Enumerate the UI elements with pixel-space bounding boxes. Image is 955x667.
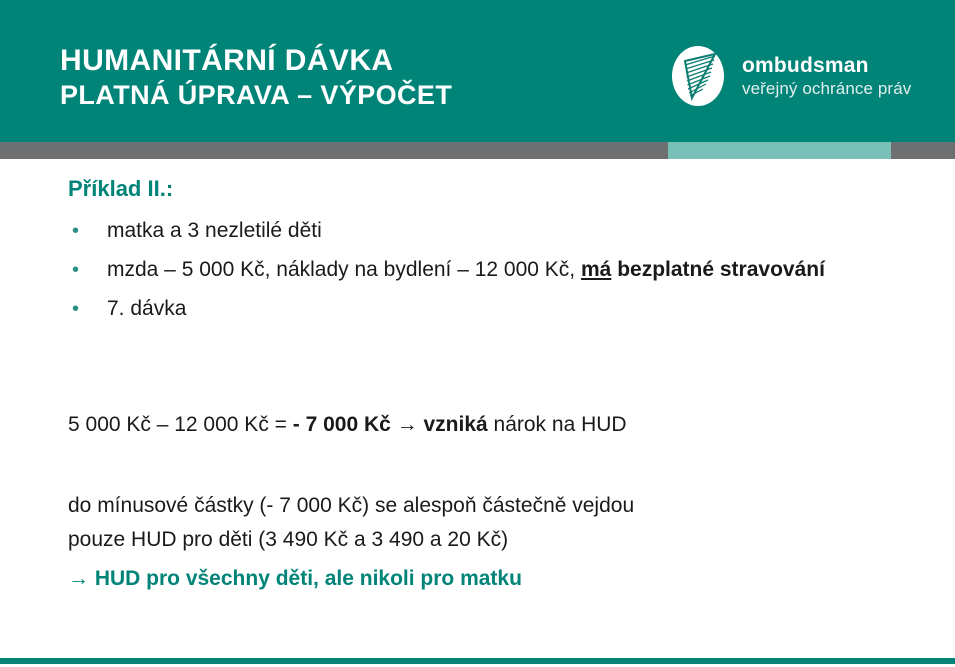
- text-run-0: matka a 3 nezletilé děti: [107, 219, 322, 242]
- minus-amount-paragraph: do mínusové částky (- 7 000 Kč) se alesp…: [68, 489, 908, 557]
- bullet-dot-icon: •: [68, 253, 107, 287]
- divider-segment-teal: [668, 142, 891, 159]
- slide-title-primary: HUMANITÁRNÍ DÁVKA: [60, 44, 620, 78]
- bullet-list: •matka a 3 nezletilé děti•mzda – 5 000 K…: [68, 214, 898, 331]
- text-run-0: 5 000 Kč – 12 000 Kč =: [68, 413, 293, 436]
- slide-header: HUMANITÁRNÍ DÁVKA PLATNÁ ÚPRAVA – VÝPOČE…: [0, 0, 955, 142]
- minus-paragraph-line-2: pouze HUD pro děti (3 490 Kč a 3 490 a 2…: [68, 523, 908, 557]
- example-heading: Příklad II.:: [68, 176, 173, 202]
- ombudsman-logo: ombudsman veřejný ochránce práv: [668, 44, 911, 108]
- bullet-item: •7. dávka: [68, 292, 898, 326]
- bottom-rule: [0, 658, 955, 664]
- bullet-item: •mzda – 5 000 Kč, náklady na bydlení – 1…: [68, 253, 898, 287]
- bullet-item: •matka a 3 nezletilé děti: [68, 214, 898, 248]
- header-title-group: HUMANITÁRNÍ DÁVKA PLATNÁ ÚPRAVA – VÝPOČE…: [60, 44, 620, 111]
- divider-segment-gray-right: [891, 142, 955, 159]
- conclusion-line: → HUD pro všechny děti, ale nikoli pro m…: [68, 562, 908, 596]
- text-run-4: nárok na HUD: [488, 413, 627, 436]
- logo-name: ombudsman: [742, 54, 869, 77]
- slide-content: Příklad II.: •matka a 3 nezletilé děti•m…: [0, 159, 955, 656]
- slide: HUMANITÁRNÍ DÁVKA PLATNÁ ÚPRAVA – VÝPOČE…: [0, 0, 955, 667]
- text-run-0: 7. dávka: [107, 297, 186, 320]
- ombudsman-flag-icon: [668, 44, 728, 108]
- divider-segment-gray-left: [0, 142, 668, 159]
- text-run-2: →: [391, 413, 424, 436]
- header-divider: [0, 142, 955, 159]
- text-run-3: bezplatné stravování: [617, 258, 825, 281]
- bullet-dot-icon: •: [68, 214, 107, 248]
- logo-subtitle: veřejný ochránce práv: [742, 79, 911, 98]
- logo-text-group: ombudsman veřejný ochránce práv: [742, 54, 911, 99]
- minus-paragraph-line-1: do mínusové částky (- 7 000 Kč) se alesp…: [68, 489, 908, 523]
- equation-line: 5 000 Kč – 12 000 Kč = - 7 000 Kč → vzni…: [68, 408, 908, 442]
- text-run-3: vzniká: [423, 413, 487, 436]
- bullet-text: mzda – 5 000 Kč, náklady na bydlení – 12…: [107, 253, 898, 287]
- text-run-1: - 7 000 Kč: [293, 413, 391, 436]
- text-run-0: mzda – 5 000 Kč, náklady na bydlení – 12…: [107, 258, 581, 281]
- bullet-text: 7. dávka: [107, 292, 898, 326]
- slide-title-secondary: PLATNÁ ÚPRAVA – VÝPOČET: [60, 80, 620, 111]
- bullet-text: matka a 3 nezletilé děti: [107, 214, 898, 248]
- text-run-1: má: [581, 258, 611, 281]
- bullet-dot-icon: •: [68, 292, 107, 326]
